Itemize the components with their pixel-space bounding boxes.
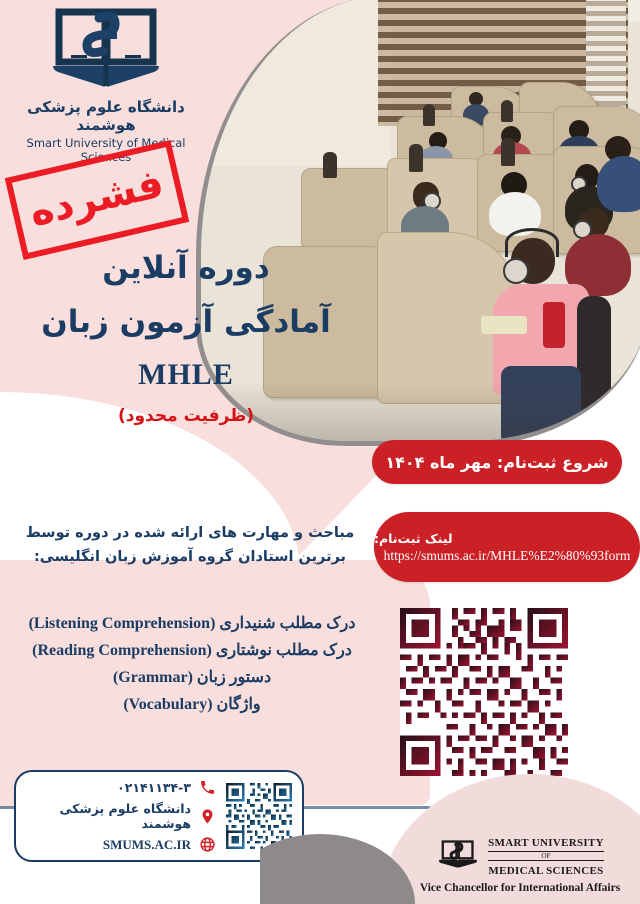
skill-item: درک مطلب شنیداری (Listening Comprehensio…: [28, 613, 356, 633]
registration-start-text: شروع ثبت‌نام: مهر ماه ۱۴۰۴: [385, 453, 608, 472]
book-laptop-caduceus-icon: [41, 8, 171, 94]
qr-code-contact[interactable]: [226, 783, 292, 849]
phone-number: ۰۲۱۴۱۱۳۴-۳: [117, 780, 191, 795]
book-laptop-caduceus-icon: [436, 840, 480, 872]
address-text: دانشگاه علوم پزشکی هوشمند: [26, 801, 191, 831]
globe-icon: [199, 836, 216, 853]
poster-canvas: دانشگاه علوم پزشکی هوشمند Smart Universi…: [0, 0, 640, 904]
exam-name: MHLE: [0, 358, 372, 392]
footer-of: OF: [488, 851, 604, 861]
website-url[interactable]: SMUMS.AC.IR: [103, 837, 191, 853]
footer-subtitle: Vice Chancellor for International Affair…: [410, 882, 630, 894]
contact-row-phone: ۰۲۱۴۱۱۳۴-۳: [26, 779, 216, 796]
contact-row-address: دانشگاه علوم پزشکی هوشمند: [26, 801, 216, 831]
registration-link-url[interactable]: https://smums.ac.ir/MHLE%E2%80%93form: [384, 548, 631, 564]
skill-item: درک مطلب نوشتاری (Reading Comprehension): [28, 640, 356, 660]
footer-university-name: SMART UNIVERSITY OF MEDICAL SCIENCES: [488, 834, 604, 879]
description-line-1: مباحث و مهارت های ارائه شده در دوره توسط: [10, 522, 370, 546]
registration-start-banner: شروع ثبت‌نام: مهر ماه ۱۴۰۴: [372, 440, 622, 484]
footer-line-1: SMART UNIVERSITY: [488, 837, 604, 849]
university-logo: دانشگاه علوم پزشکی هوشمند Smart Universi…: [26, 8, 186, 164]
headline-block: دوره آنلاین آمادگی آزمون زبان MHLE (ظرفی…: [0, 250, 372, 426]
location-pin-icon: [199, 808, 216, 825]
description-line-2: برترین استادان گروه آموزش زبان انگلیسی:: [10, 546, 370, 570]
course-description: مباحث و مهارت های ارائه شده در دوره توسط…: [10, 522, 370, 570]
registration-link-label: لینک ثبت‌نام:: [374, 531, 471, 546]
contact-row-website[interactable]: SMUMS.AC.IR: [26, 836, 216, 853]
skill-item: واژگان (Vocabulary): [28, 694, 356, 714]
headline-line-2: آمادگی آزمون زبان: [0, 304, 372, 340]
footer-branding: SMART UNIVERSITY OF MEDICAL SCIENCES Vic…: [410, 834, 630, 894]
contact-card: ۰۲۱۴۱۱۳۴-۳ دانشگاه علوم پزشکی هوشمند: [14, 770, 304, 862]
university-name-fa: دانشگاه علوم پزشکی هوشمند: [26, 98, 186, 134]
skill-item: دستور زبان (Grammar): [28, 667, 356, 687]
stamp-label: فشرده: [26, 163, 167, 233]
phone-icon: [199, 779, 216, 796]
headline-line-1: دوره آنلاین: [0, 250, 372, 286]
capacity-note: (ظرفیت محدود): [0, 406, 372, 426]
registration-link-banner[interactable]: لینک ثبت‌نام: https://smums.ac.ir/MHLE%E…: [374, 512, 640, 582]
qr-code-registration[interactable]: [400, 608, 568, 776]
skills-list: درک مطلب شنیداری (Listening Comprehensio…: [6, 592, 378, 737]
footer-line-2: MEDICAL SCIENCES: [488, 865, 603, 877]
